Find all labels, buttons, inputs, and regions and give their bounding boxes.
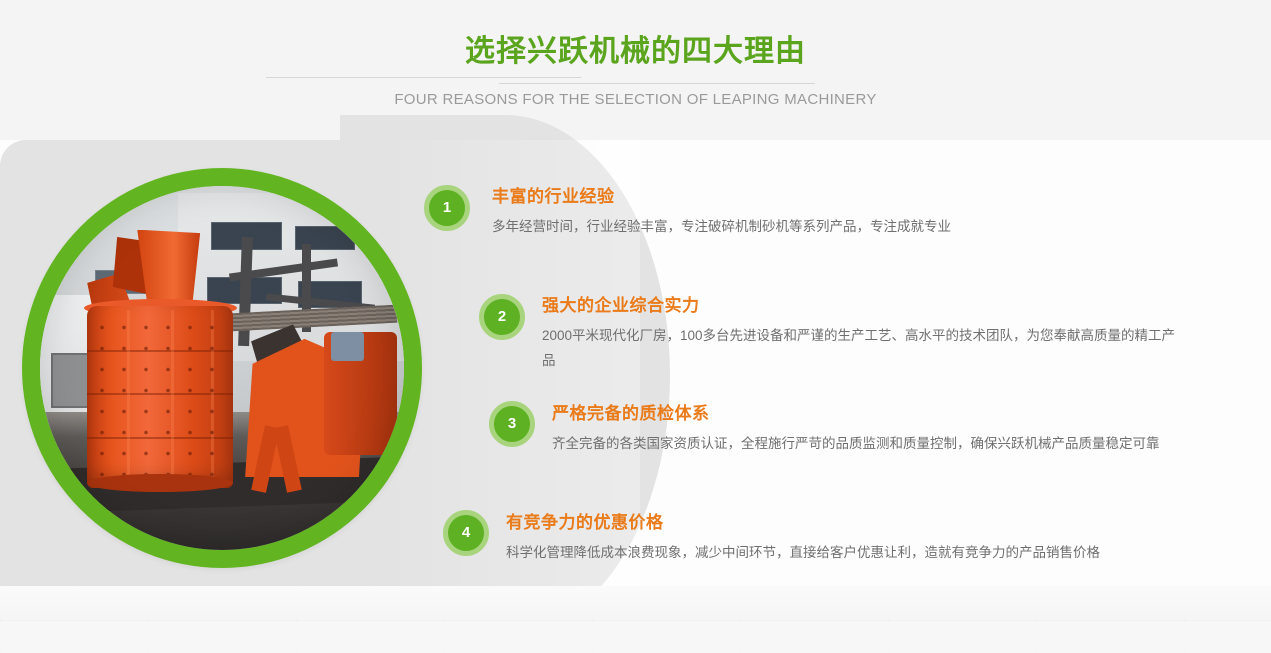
factory-scene-illustration [40,186,404,550]
reason-body-2: 2000平米现代化厂房，100多台先进设备和严谨的生产工艺、高水平的技术团队，为… [542,323,1182,373]
machine-photo [40,186,404,550]
section-header: 选择兴跃机械的四大理由 FOUR REASONS FOR THE SELECTI… [0,0,1271,140]
reason-body-1: 多年经营时间，行业经验丰富，专注破碎机制砂机等系列产品，专注成就专业 [492,214,1132,239]
title-divider-right [499,83,815,84]
reasons-section: 选择兴跃机械的四大理由 FOUR REASONS FOR THE SELECTI… [0,0,1271,653]
floor-pattern [0,586,1271,653]
title-divider-left [266,77,581,78]
reason-number-badge-4: 4 [443,510,489,556]
photo-green-ring [22,168,422,568]
floor-top-shade [0,586,1271,620]
drum-bolt-pattern [91,317,229,477]
page-subtitle: FOUR REASONS FOR THE SELECTION OF LEAPIN… [0,88,1271,112]
reason-number-badge-3: 3 [489,401,535,447]
reason-body-3: 齐全完备的各类国家资质认证，全程施行严苛的品质监测和质量控制，确保兴跃机械产品质… [552,431,1192,456]
page-title: 选择兴跃机械的四大理由 [0,32,1271,72]
motor-housing [331,332,364,361]
reason-heading-3: 严格完备的质检体系 [552,399,710,424]
reason-number-badge-2: 2 [479,294,525,340]
reason-heading-4: 有竞争力的优惠价格 [506,508,664,533]
drum-bottom-rim [87,474,233,492]
reason-body-4: 科学化管理降低成本浪费现象，减少中间环节，直接给客户优惠让利，造就有竞争力的产品… [506,540,1146,565]
reason-heading-2: 强大的企业综合实力 [542,291,700,316]
reason-heading-1: 丰富的行业经验 [492,182,615,207]
reason-number-badge-1: 1 [424,185,470,231]
